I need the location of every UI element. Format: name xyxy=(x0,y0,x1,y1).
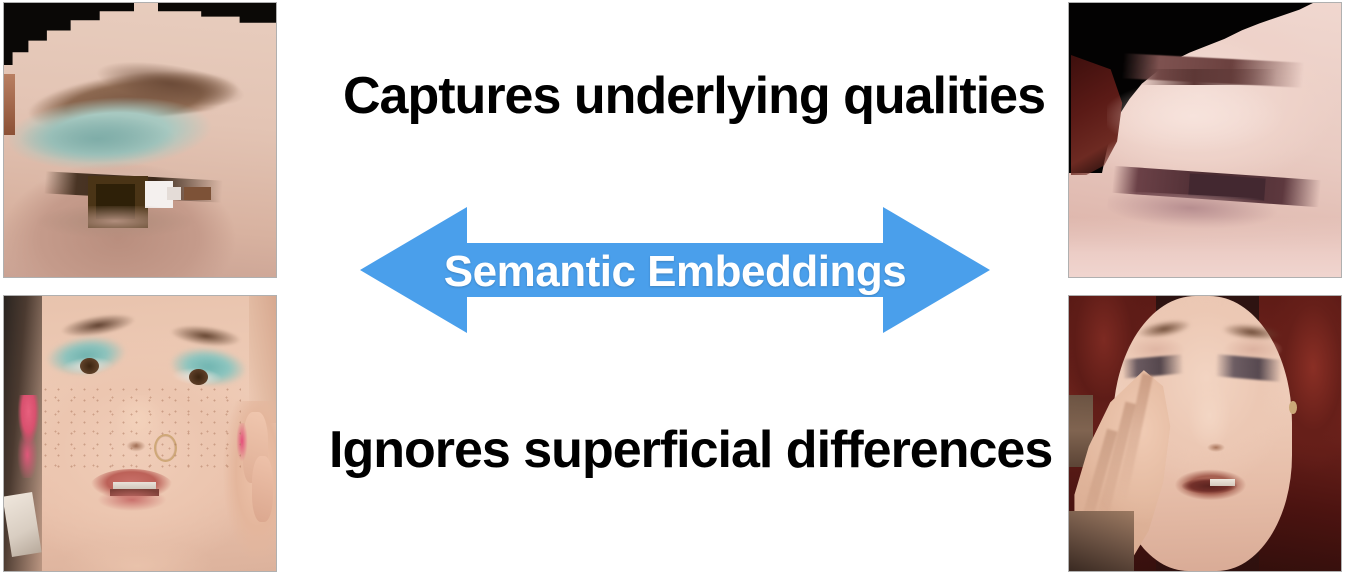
under-eye-shadow xyxy=(37,206,200,244)
image-panel-bottom-right xyxy=(1068,295,1342,572)
finger-lower xyxy=(252,456,274,522)
eye-corner xyxy=(184,187,211,201)
portrait-auburn-hand-image xyxy=(1069,296,1341,571)
semantic-embeddings-arrow: Semantic Embeddings xyxy=(360,203,990,337)
teeth xyxy=(1210,479,1234,486)
cheek-area xyxy=(1069,217,1341,277)
freckles xyxy=(39,384,240,472)
arrow-label-semantic-embeddings: Semantic Embeddings xyxy=(360,243,990,301)
chin xyxy=(53,522,222,572)
figure-root: Captures underlying qualities Semantic E… xyxy=(0,0,1348,574)
image-panel-top-left xyxy=(3,2,277,278)
eyelid-highlight xyxy=(1107,85,1303,167)
wrist-sleeve xyxy=(1069,511,1134,572)
caption-captures-underlying-qualities: Captures underlying qualities xyxy=(343,66,1045,126)
eyelid-crease-inner xyxy=(1140,69,1276,85)
caption-ignores-superficial-differences: Ignores superficial differences xyxy=(329,420,1052,480)
eye-highlight-small xyxy=(167,187,181,201)
pixelated-eye-closed-image xyxy=(1069,3,1341,277)
image-panel-bottom-left xyxy=(3,295,277,572)
earring-left xyxy=(15,395,42,478)
left-edge-skin xyxy=(4,74,15,134)
image-panel-top-right xyxy=(1068,2,1342,278)
teal-eyeshadow-core xyxy=(20,113,189,168)
pixelated-eye-teal-image xyxy=(4,3,276,277)
nostril xyxy=(1205,442,1227,453)
lower-lip xyxy=(94,489,170,517)
portrait-freckles-teal-image xyxy=(4,296,276,571)
